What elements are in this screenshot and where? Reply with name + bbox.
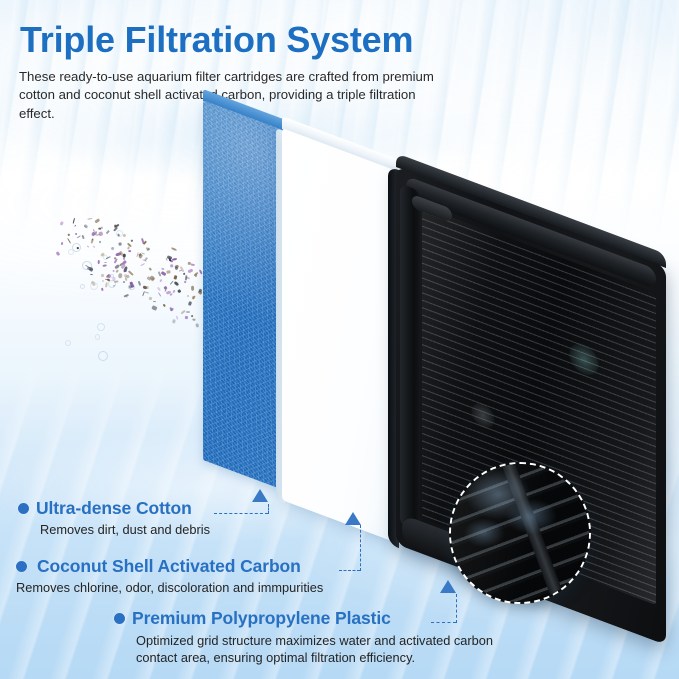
grid-magnifier-closeup — [449, 462, 591, 604]
callout-heading-row: Ultra-dense Cotton — [18, 498, 210, 519]
callout-ultra-dense-cotton: Ultra-dense Cotton Removes dirt, dust an… — [18, 498, 210, 537]
callout-coconut-shell-activated-carbon: Coconut Shell Activated Carbon Removes c… — [16, 556, 323, 595]
magnified-grid-highlights — [451, 464, 589, 602]
callout-description: Removes dirt, dust and debris — [40, 522, 210, 537]
callout-heading-row: Coconut Shell Activated Carbon — [16, 556, 323, 577]
arrow-up-icon-cotton — [252, 489, 268, 502]
callout-heading: Premium Polypropylene Plastic — [132, 608, 391, 629]
infographic-canvas: Triple Filtration System These ready-to-… — [0, 0, 679, 679]
bullet-dot-icon — [18, 503, 29, 514]
callout-heading: Coconut Shell Activated Carbon — [37, 556, 301, 577]
callout-heading: Ultra-dense Cotton — [36, 498, 192, 519]
frame-left-pillar — [400, 183, 420, 532]
arrow-up-icon-plastic — [440, 580, 456, 593]
arrow-up-icon-carbon — [345, 512, 361, 525]
bullet-dot-icon — [16, 561, 27, 572]
callout-premium-polypropylene-plastic: Premium Polypropylene Plastic Optimized … — [114, 608, 528, 666]
callout-description: Removes chlorine, odor, discoloration an… — [16, 580, 323, 595]
bullet-dot-icon — [114, 613, 125, 624]
callout-heading-row: Premium Polypropylene Plastic — [114, 608, 528, 629]
callout-description: Optimized grid structure maximizes water… — [136, 632, 528, 666]
